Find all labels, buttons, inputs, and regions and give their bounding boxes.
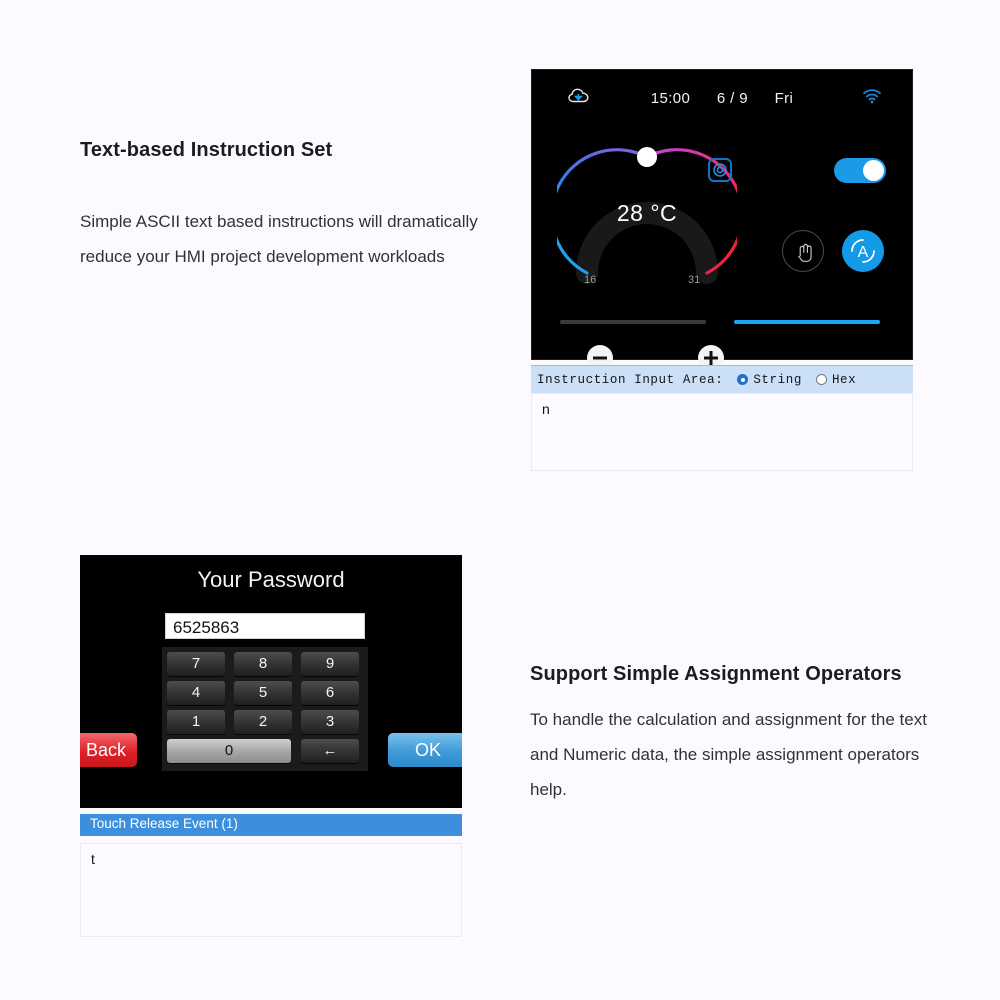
toggle-knob (863, 160, 884, 181)
slider-right[interactable] (734, 320, 880, 324)
touch-release-event-bar: Touch Release Event (1) (80, 814, 462, 836)
key-5[interactable]: 5 (234, 681, 292, 705)
status-bar-center: 15:00 6 / 9 Fri (532, 90, 912, 107)
key-1[interactable]: 1 (167, 710, 225, 734)
page-root: Text-based Instruction Set Simple ASCII … (0, 0, 1000, 1000)
key-2[interactable]: 2 (234, 710, 292, 734)
key-7[interactable]: 7 (167, 652, 225, 676)
key-0[interactable]: 0 (167, 739, 291, 763)
feature-block-instruction: Text-based Instruction Set Simple ASCII … (80, 134, 480, 274)
feature-body-instruction: Simple ASCII text based instructions wil… (80, 204, 480, 274)
ok-button[interactable]: OK (388, 733, 462, 767)
instruction-input-bar: Instruction Input Area: String Hex (531, 365, 913, 393)
numeric-keypad[interactable]: 7 8 9 4 5 6 1 2 3 0 ← (162, 647, 368, 771)
status-bar: 15:00 6 / 9 Fri (532, 70, 912, 126)
radio-hex-label: Hex (832, 373, 856, 387)
svg-text:A: A (858, 244, 869, 261)
dial-handle (637, 147, 657, 167)
status-date: 6 / 9 (717, 90, 748, 107)
instruction-input-label: Instruction Input Area: (537, 373, 723, 387)
dial-max-label: 31 (688, 274, 700, 286)
feature-block-assignment: Support Simple Assignment Operators To h… (530, 658, 950, 807)
radio-option-string[interactable]: String (737, 373, 802, 387)
hmi-thermostat-screen[interactable]: 15:00 6 / 9 Fri (531, 69, 913, 360)
radio-string-icon[interactable] (737, 374, 748, 385)
manual-mode-button[interactable] (782, 230, 824, 272)
hmi-password-screen[interactable]: Your Password 6525863 7 8 9 4 5 6 1 2 3 … (80, 555, 462, 808)
target-mode-icon[interactable] (708, 158, 732, 182)
feature-title-instruction: Text-based Instruction Set (80, 134, 480, 166)
wifi-icon (862, 89, 882, 109)
dial-temperature-value: 28 °C (557, 200, 737, 227)
back-button[interactable]: Back (80, 733, 137, 767)
touch-event-textarea[interactable]: t (80, 843, 462, 937)
instruction-input-textarea[interactable]: n (531, 393, 913, 471)
password-input-field[interactable]: 6525863 (165, 613, 365, 639)
radio-string-label: String (753, 373, 802, 387)
key-9[interactable]: 9 (301, 652, 359, 676)
feature-title-assignment: Support Simple Assignment Operators (530, 658, 950, 690)
auto-mode-button[interactable]: A (842, 230, 884, 272)
key-6[interactable]: 6 (301, 681, 359, 705)
power-toggle-switch[interactable] (834, 158, 886, 183)
key-8[interactable]: 8 (234, 652, 292, 676)
key-3[interactable]: 3 (301, 710, 359, 734)
key-backspace[interactable]: ← (301, 739, 359, 763)
radio-option-hex[interactable]: Hex (816, 373, 856, 387)
status-weekday: Fri (775, 90, 794, 107)
radio-hex-icon[interactable] (816, 374, 827, 385)
password-title: Your Password (80, 567, 462, 593)
key-4[interactable]: 4 (167, 681, 225, 705)
feature-body-assignment: To handle the calculation and assignment… (530, 702, 950, 807)
slider-left[interactable] (560, 320, 706, 324)
status-time: 15:00 (651, 90, 691, 107)
dial-min-label: 16 (584, 274, 596, 286)
